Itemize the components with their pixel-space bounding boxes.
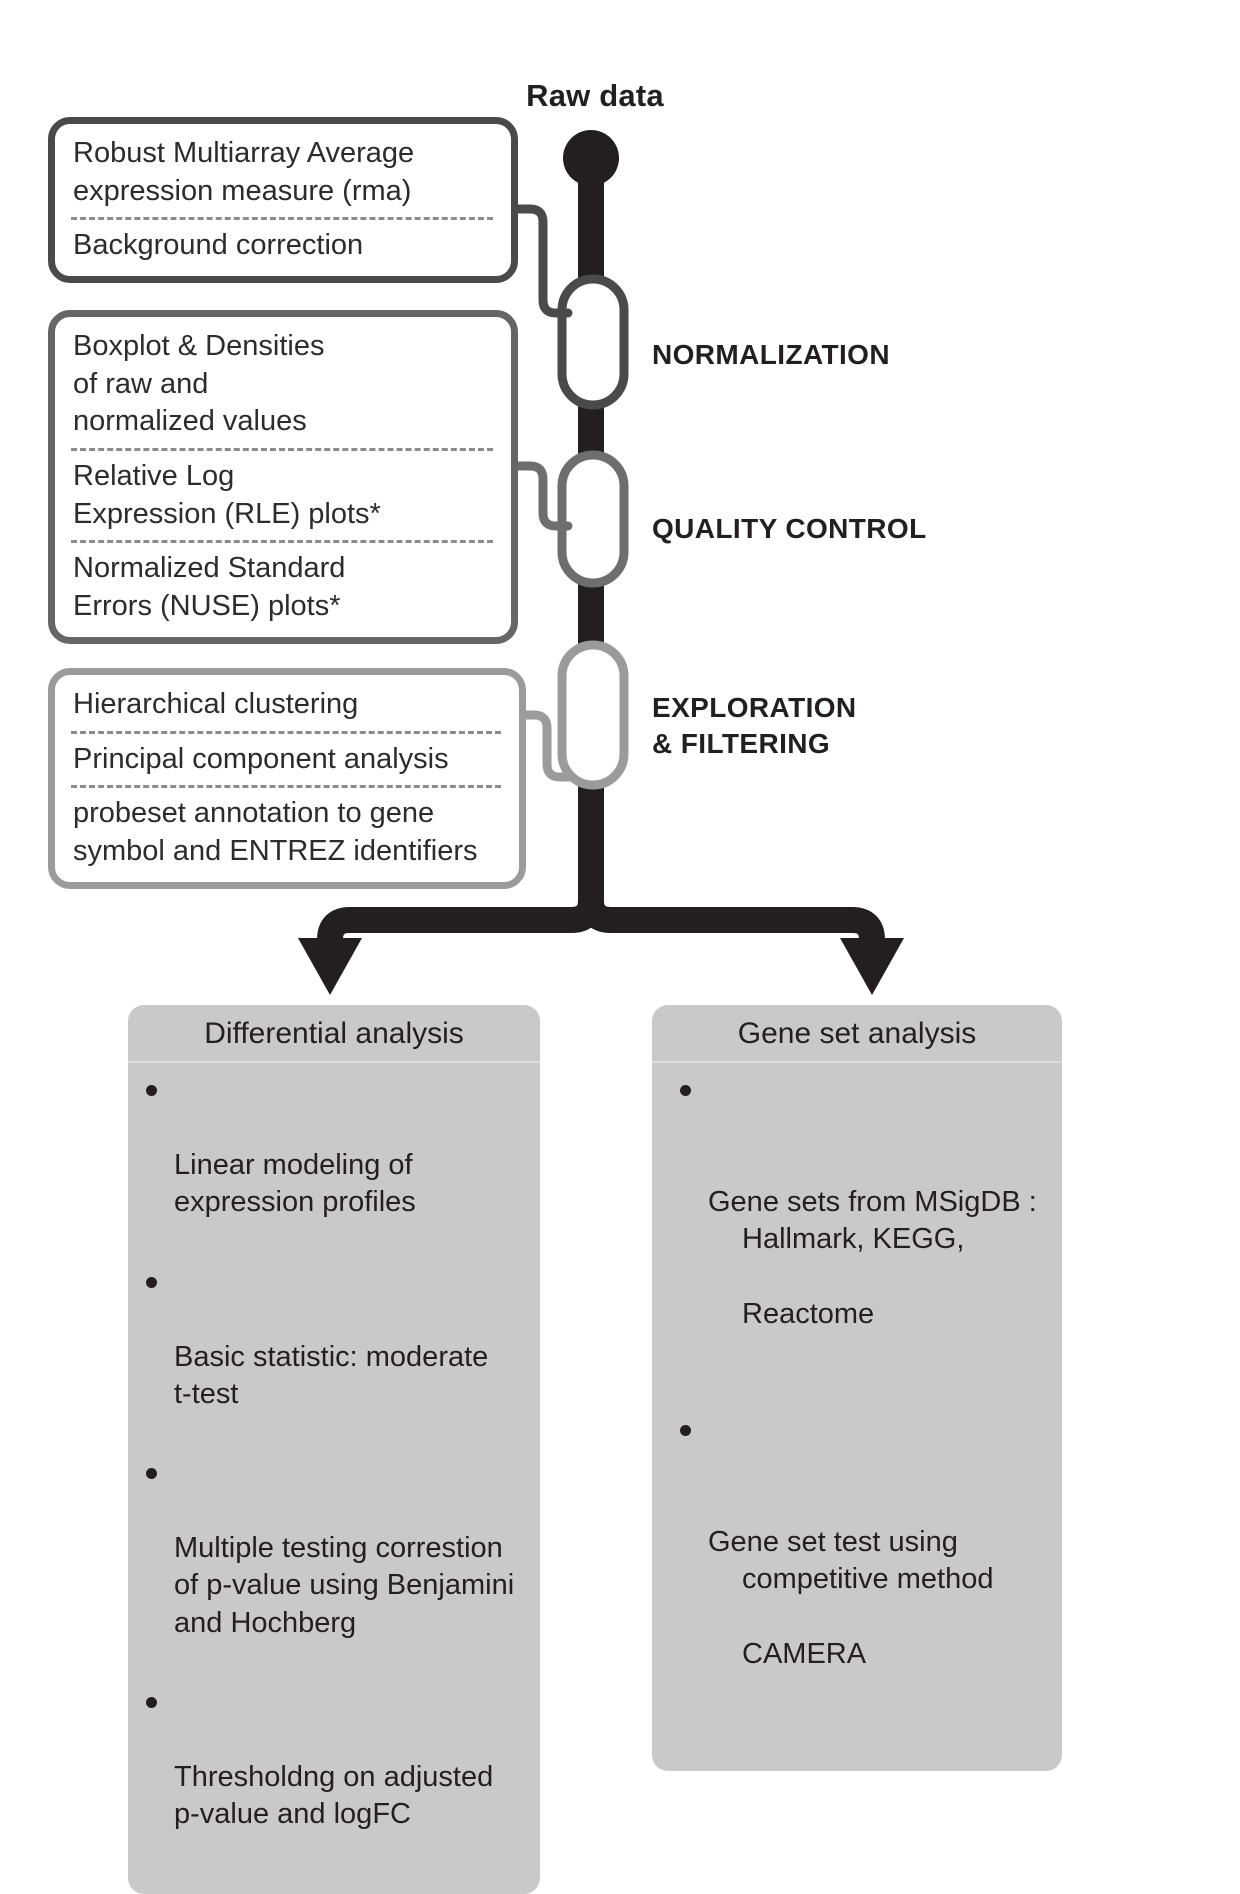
- step-item: Robust Multiarray Average expression mea…: [55, 130, 511, 215]
- list-item-line: competitive method: [708, 1561, 1048, 1598]
- step-item: Principal component analysis: [55, 736, 519, 784]
- stage-label-exploration-filtering: EXPLORATION & FILTERING: [652, 690, 857, 762]
- list-item-text: Gene set test using competitive method C…: [680, 1487, 1048, 1710]
- step-item: Normalized Standard Errors (NUSE) plots*: [55, 545, 511, 630]
- list-item: Thresholdng on adjusted p-value and logF…: [146, 1685, 526, 1871]
- stage-capsule-exploration: [562, 645, 624, 785]
- spine-trunk: [578, 155, 604, 915]
- step-item-text: Normalized Standard Errors (NUSE) plots*: [73, 550, 495, 625]
- step-card-exploration-filtering: Hierarchical clustering Principal compon…: [48, 668, 526, 889]
- list-item-text: Gene sets from MSigDB : Hallmark, KEGG, …: [680, 1147, 1048, 1370]
- stage-label-normalization: NORMALIZATION: [652, 337, 890, 373]
- list-item: Multiple testing correstion of p-value u…: [146, 1456, 526, 1679]
- stage-label-quality-control: QUALITY CONTROL: [652, 511, 927, 547]
- outcome-bullet-list: Gene sets from MSigDB : Hallmark, KEGG, …: [652, 1063, 1062, 1771]
- bullet-dot: [146, 1277, 157, 1288]
- list-item-line: Gene set test using: [708, 1526, 958, 1558]
- step-item: Background correction: [55, 222, 511, 270]
- raw-data-label: Raw data: [470, 78, 720, 114]
- step-item-text: Background correction: [73, 227, 495, 265]
- connector-quality-control: [512, 466, 568, 526]
- stage-capsule-normalization: [562, 279, 624, 405]
- list-item-text: Linear modeling of expression profiles: [146, 1147, 526, 1221]
- dashed-separator: [71, 540, 493, 543]
- list-item-line: Reactome: [708, 1296, 1048, 1333]
- step-item-text: probeset annotation to gene symbol and E…: [73, 795, 503, 870]
- list-item-line: Hallmark, KEGG,: [708, 1221, 1048, 1258]
- list-item: Basic statistic: moderate t-test: [146, 1265, 526, 1451]
- dashed-separator: [71, 785, 501, 788]
- step-item-text: Principal component analysis: [73, 741, 503, 779]
- stage-capsule-quality-control: [562, 455, 624, 583]
- raw-data-node: [563, 130, 619, 186]
- bullet-dot: [680, 1085, 691, 1096]
- list-item-text: Thresholdng on adjusted p-value and logF…: [146, 1759, 526, 1833]
- connector-normalization: [512, 209, 568, 313]
- step-card-quality-control: Boxplot & Densities of raw and normalize…: [48, 310, 518, 644]
- list-item-line: CAMERA: [708, 1636, 1048, 1673]
- list-item: Linear modeling of expression profiles: [146, 1073, 526, 1259]
- arrowhead-right: [840, 938, 904, 995]
- connector-exploration: [520, 715, 570, 777]
- step-item: probeset annotation to gene symbol and E…: [55, 790, 519, 875]
- outcome-title: Gene set analysis: [652, 1005, 1062, 1063]
- dashed-separator: [71, 731, 501, 734]
- bullet-dot: [146, 1085, 157, 1096]
- outcome-bullet-list: Linear modeling of expression profiles B…: [128, 1063, 540, 1894]
- list-item: Gene sets from MSigDB : Hallmark, KEGG, …: [680, 1073, 1048, 1407]
- step-item-text: Robust Multiarray Average expression mea…: [73, 135, 495, 210]
- list-item-text: Multiple testing correstion of p-value u…: [146, 1530, 526, 1641]
- arrowhead-left: [298, 938, 362, 995]
- step-item: Hierarchical clustering: [55, 681, 519, 729]
- bullet-dot: [146, 1468, 157, 1479]
- step-item-text: Relative Log Expression (RLE) plots*: [73, 458, 495, 533]
- split-leg-right: [852, 920, 872, 950]
- workflow-diagram: Raw data Robust Multiarray Average expre…: [0, 0, 1240, 1753]
- list-item-text: Basic statistic: moderate t-test: [146, 1339, 526, 1413]
- step-item: Boxplot & Densities of raw and normalize…: [55, 323, 511, 446]
- split-leg-left: [330, 920, 350, 950]
- outcome-panel-differential-analysis: Differential analysis Linear modeling of…: [128, 1005, 540, 1894]
- list-item-line: Gene sets from MSigDB :: [708, 1186, 1037, 1218]
- outcome-panel-gene-set-analysis: Gene set analysis Gene sets from MSigDB …: [652, 1005, 1062, 1771]
- bullet-dot: [146, 1697, 157, 1708]
- step-item-text: Boxplot & Densities of raw and normalize…: [73, 328, 495, 441]
- dashed-separator: [71, 448, 493, 451]
- bullet-dot: [680, 1425, 691, 1436]
- outcome-title: Differential analysis: [128, 1005, 540, 1063]
- step-item-text: Hierarchical clustering: [73, 686, 503, 724]
- list-item: Gene set test using competitive method C…: [680, 1413, 1048, 1747]
- step-item: Relative Log Expression (RLE) plots*: [55, 453, 511, 538]
- step-card-normalization: Robust Multiarray Average expression mea…: [48, 117, 518, 283]
- dashed-separator: [71, 217, 493, 220]
